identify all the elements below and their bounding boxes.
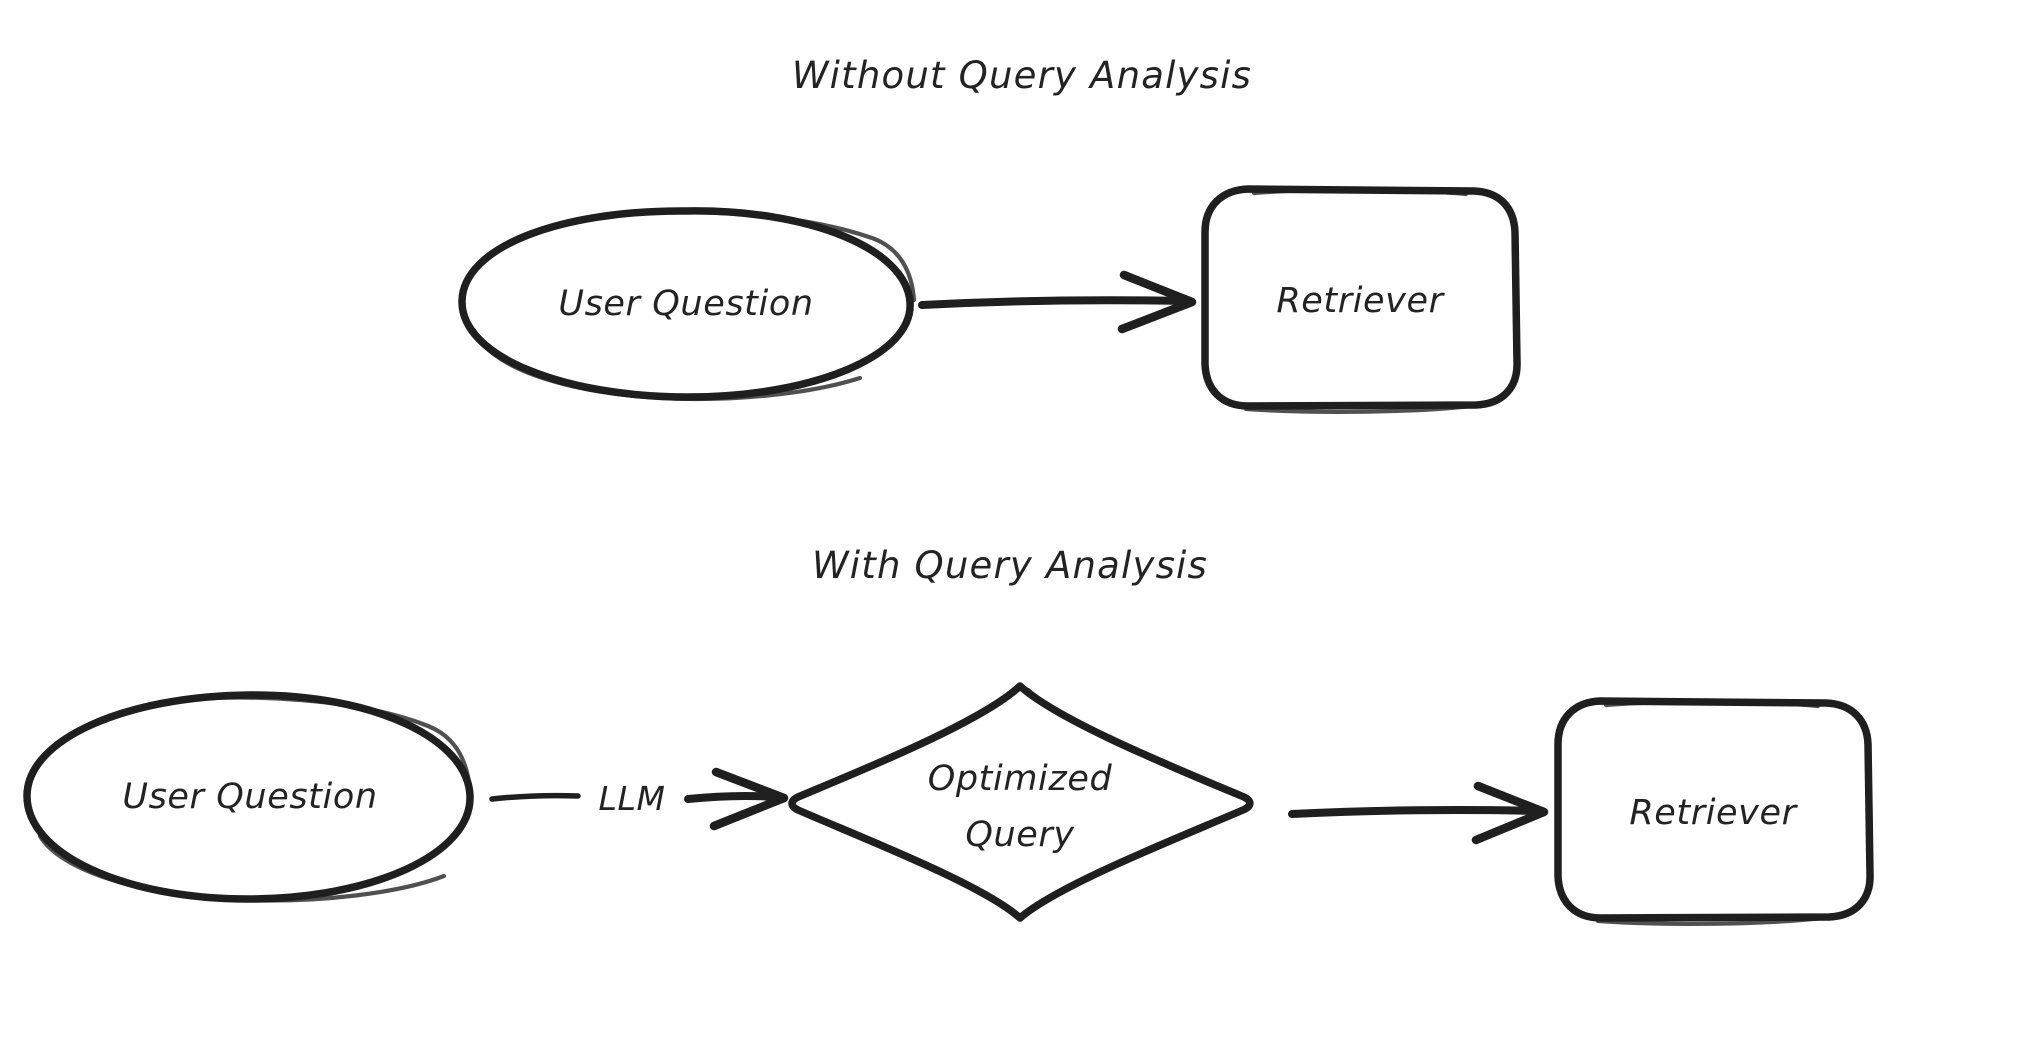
node-label-retriever-top: Retriever <box>1276 281 1445 321</box>
sketch-diagram-svg: Without Query Analysis User Question Ret… <box>0 0 2024 1044</box>
section-title-without-query-analysis: Without Query Analysis <box>792 54 1252 97</box>
node-label-optimized-query-line1: Optimized <box>928 759 1113 799</box>
arrow-shaft <box>1292 810 1538 814</box>
arrow-shaft <box>922 300 1186 305</box>
node-label-user-question-bottom: User Question <box>122 777 377 817</box>
node-user-question-top[interactable]: User Question <box>462 211 914 399</box>
node-label-optimized-query-line2: Query <box>965 815 1075 855</box>
edge-query-retriever[interactable] <box>1292 786 1544 840</box>
node-retriever-bottom[interactable]: Retriever <box>1558 701 1870 924</box>
arrow-shaft-segment-1 <box>492 796 578 799</box>
ellipse-sketch-overstroke-2 <box>40 836 444 901</box>
edge-top-question-retriever[interactable] <box>922 275 1192 329</box>
edge-question-llm-query[interactable]: LLM <box>492 772 784 826</box>
ellipse-sketch-overstroke-2 <box>474 330 860 399</box>
node-label-user-question-top: User Question <box>558 284 813 324</box>
diagram-canvas: Without Query Analysis User Question Ret… <box>0 0 2024 1044</box>
node-label-retriever-bottom: Retriever <box>1629 793 1798 833</box>
edge-label-llm: LLM <box>598 779 665 818</box>
diamond-outline <box>792 686 1250 918</box>
node-optimized-query[interactable]: Optimized Query <box>792 686 1250 918</box>
node-retriever-top[interactable]: Retriever <box>1205 189 1517 412</box>
node-user-question-bottom[interactable]: User Question <box>27 695 470 901</box>
arrow-shaft-segment-2 <box>688 796 776 799</box>
section-title-with-query-analysis: With Query Analysis <box>812 544 1208 587</box>
